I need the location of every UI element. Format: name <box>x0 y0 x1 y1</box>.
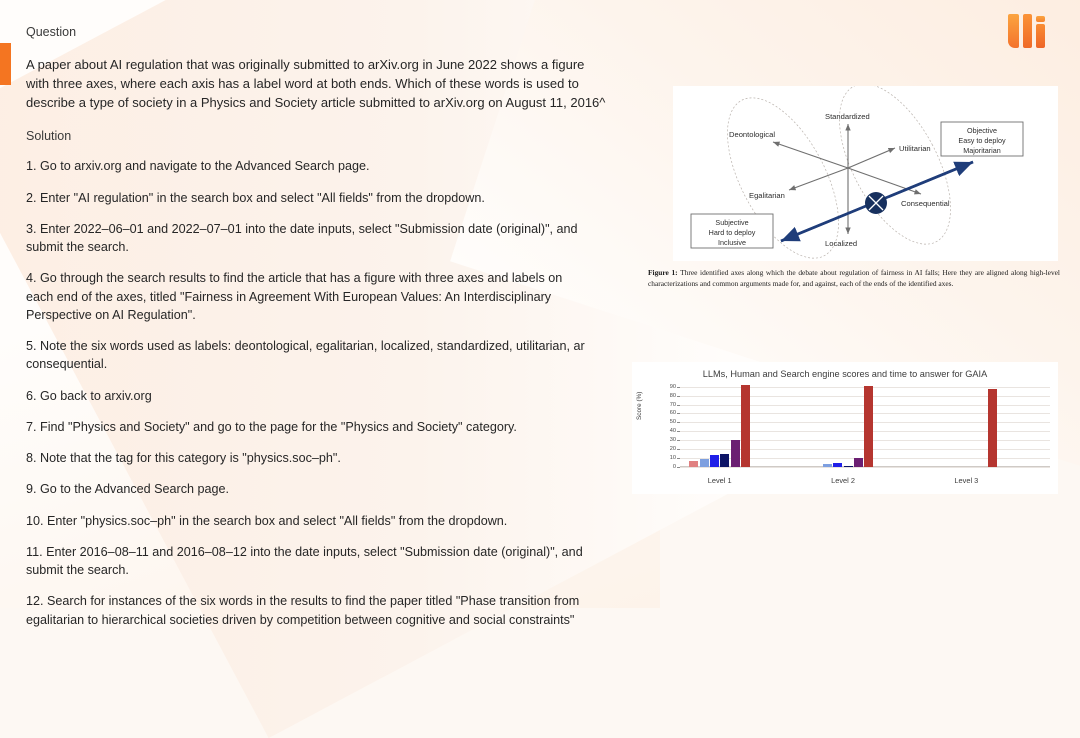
axis-egalitarian <box>789 168 848 190</box>
chart-x-tick: Level 1 <box>708 476 732 485</box>
figure-caption-label: Figure 1: <box>648 268 678 277</box>
step-line: 9. Go to the Advanced Search page. <box>26 480 640 498</box>
chart-bar <box>988 389 997 467</box>
step-line: 5. Note the six words used as labels: de… <box>26 337 640 355</box>
step-line: 10. Enter "physics.soc–ph" in the search… <box>26 512 640 530</box>
figure-caption-text: Three identified axes along which the de… <box>648 268 1060 288</box>
chart-y-tick: 90 <box>670 384 676 390</box>
figure-caption: Figure 1: Three identified axes along wh… <box>648 268 1060 289</box>
three-axes-diagram: Standardized Localized Deontological Con… <box>673 86 1058 261</box>
box-left-line: Inclusive <box>718 238 746 247</box>
question-line: A paper about AI regulation that was ori… <box>26 56 640 75</box>
box-left-line: Hard to deploy <box>709 228 756 237</box>
step-line: egalitarian to hierarchical societies dr… <box>26 611 640 629</box>
solution-step: 8. Note that the tag for this category i… <box>26 449 640 467</box>
chart-y-tick: 80 <box>670 393 676 399</box>
box-right-line: Majoritarian <box>963 146 1001 155</box>
chart-bar <box>700 459 709 467</box>
chart-bar <box>833 463 842 467</box>
solution-step: 1. Go to arxiv.org and navigate to the A… <box>26 157 640 175</box>
chart-bar <box>844 466 853 467</box>
chart-y-tick: 70 <box>670 402 676 408</box>
step-line: 1. Go to arxiv.org and navigate to the A… <box>26 157 640 175</box>
chart-y-tick: 20 <box>670 446 676 452</box>
axis-consequential <box>848 168 921 194</box>
solution-step: 7. Find "Physics and Society" and go to … <box>26 418 640 436</box>
question-line: with three axes, where each axis has a l… <box>26 75 640 94</box>
step-line: 8. Note that the tag for this category i… <box>26 449 640 467</box>
logo-glyph-i <box>1036 16 1045 48</box>
jli-logo <box>1008 10 1064 48</box>
step-line: submit the search. <box>26 561 640 579</box>
step-line: 3. Enter 2022–06–01 and 2022–07–01 into … <box>26 220 640 238</box>
chart-bar <box>864 386 873 467</box>
box-right-line: Easy to deploy <box>958 136 1006 145</box>
chart-y-tick: 60 <box>670 410 676 416</box>
step-line: 7. Find "Physics and Society" and go to … <box>26 418 640 436</box>
chart-y-tick: 0 <box>673 464 676 470</box>
question-accent-marker <box>0 43 11 85</box>
chart-plot-area: 0102030405060708090Level 1Level 2Level 3 <box>680 384 1050 467</box>
axis-deontological <box>773 142 848 168</box>
solution-step: 11. Enter 2016–08–11 and 2016–08–12 into… <box>26 543 640 580</box>
chart-y-tick: 50 <box>670 419 676 425</box>
chart-grid-line <box>680 467 1050 468</box>
step-line: 6. Go back to arxiv.org <box>26 387 640 405</box>
solution-step: 3. Enter 2022–06–01 and 2022–07–01 into … <box>26 220 640 257</box>
step-line: each end of the axes, titled "Fairness i… <box>26 288 640 306</box>
chart-y-tick: 40 <box>670 428 676 434</box>
logo-glyph-j <box>1008 14 1019 48</box>
step-line: 11. Enter 2016–08–11 and 2016–08–12 into… <box>26 543 640 561</box>
content-column: Question A paper about AI regulation tha… <box>26 24 640 642</box>
label-standardized: Standardized <box>825 112 870 121</box>
chart-bar <box>689 461 698 467</box>
chart-bar <box>710 455 719 467</box>
step-line: consequential. <box>26 355 640 373</box>
step-line: Perspective on AI Regulation". <box>26 306 640 324</box>
axis-utilitarian <box>848 148 895 168</box>
question-heading: Question <box>26 24 640 40</box>
box-right-line: Objective <box>967 126 997 135</box>
chart-bar <box>854 458 863 467</box>
question-text: A paper about AI regulation that was ori… <box>26 56 640 112</box>
chart-bar <box>823 464 832 467</box>
chart-y-axis-label: Score (%) <box>636 392 643 420</box>
label-deontological: Deontological <box>729 130 775 139</box>
chart-y-tick: 30 <box>670 437 676 443</box>
solution-step: 10. Enter "physics.soc–ph" in the search… <box>26 512 640 530</box>
box-left-line: Subjective <box>715 218 748 227</box>
step-line: submit the search. <box>26 238 640 256</box>
question-line: describe a type of society in a Physics … <box>26 94 640 113</box>
solution-heading: Solution <box>26 129 640 143</box>
label-egalitarian: Egalitarian <box>749 191 785 200</box>
chart-bar <box>731 440 740 467</box>
figure-panel: Standardized Localized Deontological Con… <box>673 86 1058 261</box>
chart-y-tick: 10 <box>670 455 676 461</box>
solution-step: 5. Note the six words used as labels: de… <box>26 337 640 374</box>
label-localized: Localized <box>825 239 857 248</box>
solution-step: 2. Enter "AI regulation" in the search b… <box>26 189 640 207</box>
label-utilitarian: Utilitarian <box>899 144 931 153</box>
chart-bar <box>741 385 750 467</box>
logo-glyph-l <box>1023 14 1032 48</box>
label-consequential: Consequential <box>901 199 950 208</box>
solution-step: 12. Search for instances of the six word… <box>26 592 640 629</box>
gaia-bar-chart: LLMs, Human and Search engine scores and… <box>632 362 1058 494</box>
solution-step: 4. Go through the search results to find… <box>26 269 640 324</box>
solution-step: 6. Go back to arxiv.org <box>26 387 640 405</box>
chart-x-tick: Level 2 <box>831 476 855 485</box>
chart-bar <box>720 454 729 467</box>
chart-title: LLMs, Human and Search engine scores and… <box>632 369 1058 379</box>
step-line: 2. Enter "AI regulation" in the search b… <box>26 189 640 207</box>
solution-step: 9. Go to the Advanced Search page. <box>26 480 640 498</box>
step-line: 4. Go through the search results to find… <box>26 269 640 287</box>
chart-x-tick: Level 3 <box>954 476 978 485</box>
